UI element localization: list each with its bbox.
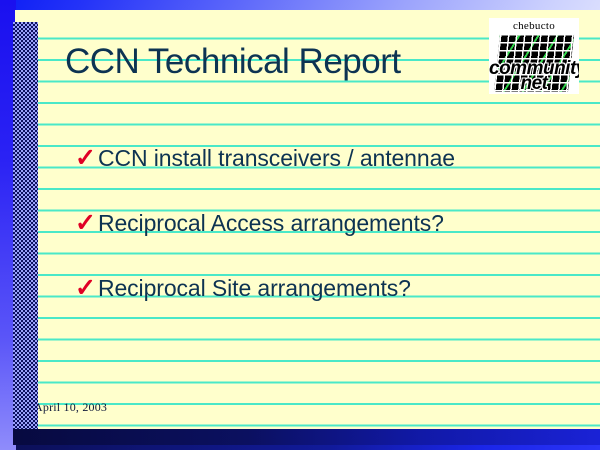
list-item-label: Reciprocal Access arrangements?: [98, 210, 444, 236]
slide-date: April 10, 2003: [34, 400, 107, 415]
list-item: ✓ Reciprocal Access arrangements?: [75, 210, 444, 236]
list-item-label: CCN install transceivers / antennae: [98, 145, 455, 171]
page-title: CCN Technical Report: [65, 40, 495, 84]
logo-text-chebucto: chebucto: [489, 20, 579, 32]
logo-text-net: net: [489, 73, 579, 94]
list-item: ✓ Reciprocal Site arrangements?: [75, 275, 411, 301]
checkmark-icon: ✓: [75, 275, 96, 301]
lined-paper-panel: CCN Technical Report chebucto community …: [15, 10, 600, 433]
list-item-label: Reciprocal Site arrangements?: [98, 275, 411, 301]
list-item: ✓ CCN install transceivers / antennae: [75, 145, 455, 171]
paper-content-area: CCN Technical Report chebucto community …: [15, 10, 600, 433]
left-dither-band: [13, 22, 38, 434]
checkmark-icon: ✓: [75, 145, 96, 171]
presentation-slide: CCN Technical Report chebucto community …: [0, 0, 600, 450]
bottom-dither-band: [13, 429, 600, 445]
checkmark-icon: ✓: [75, 210, 96, 236]
chebucto-community-net-logo: chebucto community net: [489, 18, 579, 94]
